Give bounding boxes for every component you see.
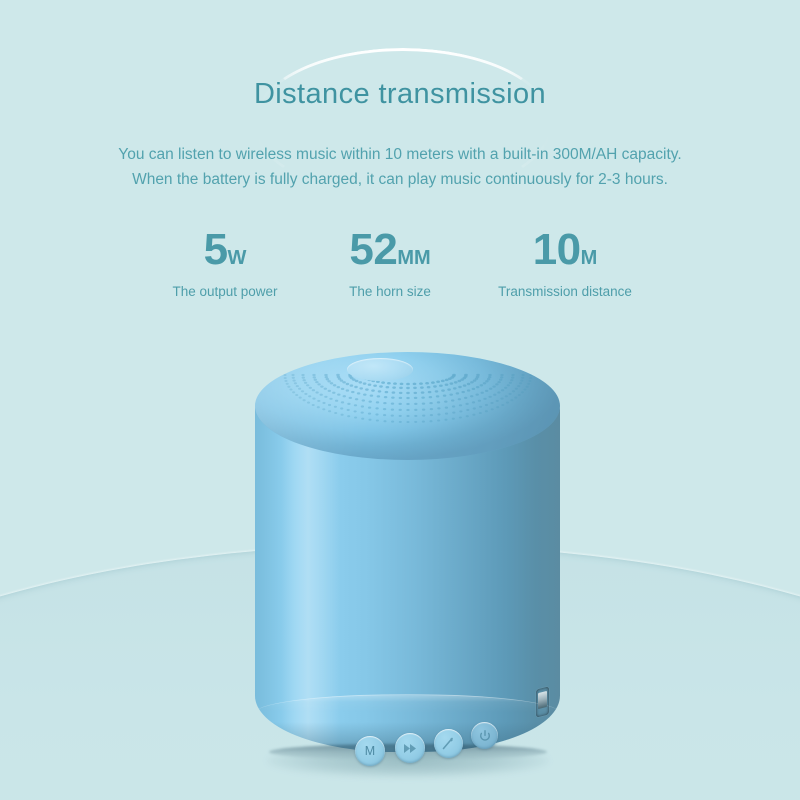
mode-button-label: M: [365, 744, 375, 758]
power-icon: [479, 730, 491, 742]
play-pause-icon: [441, 737, 456, 750]
stat-transmission-distance: 10M Transmission distance: [480, 228, 650, 299]
port-contact: [538, 691, 547, 709]
power-button[interactable]: [471, 722, 498, 749]
subtitle-line-1: You can listen to wireless music within …: [0, 142, 800, 167]
mode-button[interactable]: M: [355, 736, 385, 766]
stat-output-power: 5W The output power: [150, 228, 300, 299]
stat-unit: W: [228, 247, 247, 269]
next-track-icon: [403, 743, 418, 754]
product-poster: Distance transmission You can listen to …: [0, 0, 800, 800]
stat-number: 10: [533, 225, 581, 274]
stat-unit: MM: [397, 247, 430, 269]
stat-value: 52MM: [315, 228, 465, 272]
stat-value: 10M: [480, 228, 650, 272]
stat-horn-size: 52MM The horn size: [315, 228, 465, 299]
stat-number: 52: [349, 225, 397, 274]
stat-label: The output power: [150, 284, 300, 299]
charging-port-icon: [536, 686, 549, 717]
stat-number: 5: [204, 225, 228, 274]
page-title: Distance transmission: [0, 78, 800, 111]
stat-value: 5W: [150, 228, 300, 272]
dome-shading: [255, 352, 560, 460]
stat-unit: M: [581, 247, 598, 269]
page-subtitle: You can listen to wireless music within …: [0, 142, 800, 192]
control-buttons: M: [355, 730, 515, 774]
spec-stats: 5W The output power 52MM The horn size 1…: [150, 228, 650, 299]
play-pause-button[interactable]: [434, 729, 463, 758]
stat-label: The horn size: [315, 284, 465, 299]
bluetooth-speaker-image: M: [255, 352, 560, 777]
stat-label: Transmission distance: [480, 284, 650, 299]
speaker-top-dome: [255, 352, 560, 460]
next-track-button[interactable]: [395, 733, 425, 763]
subtitle-line-2: When the battery is fully charged, it ca…: [0, 167, 800, 192]
